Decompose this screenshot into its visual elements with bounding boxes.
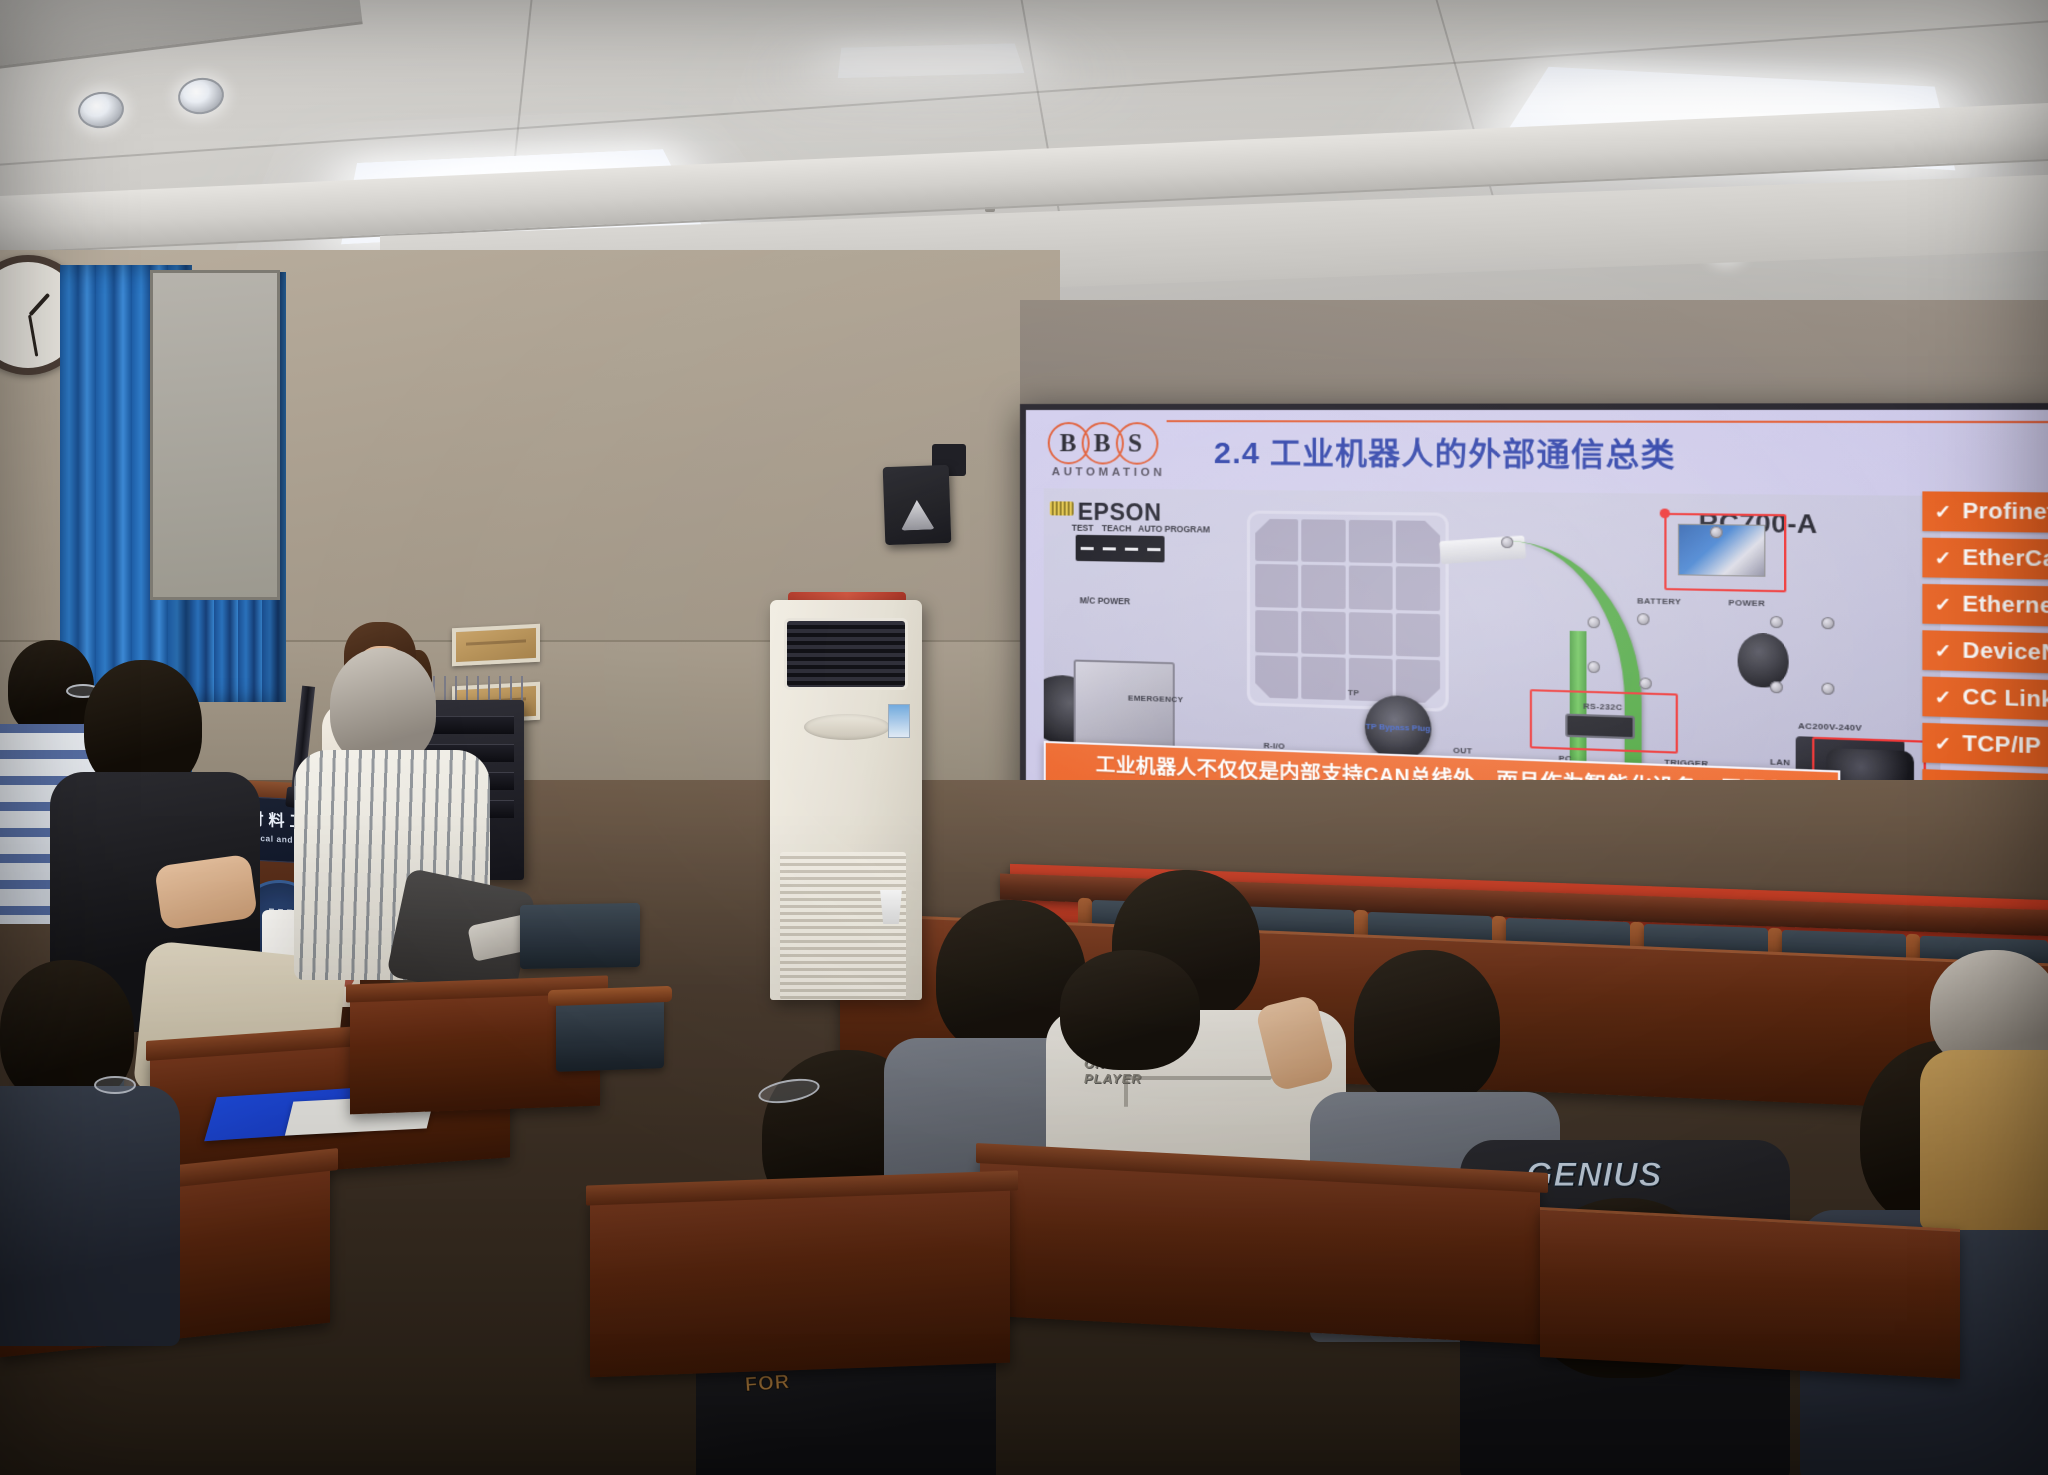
tp-label: TP xyxy=(1348,688,1360,698)
protocol-label: DeviceNet xyxy=(1962,638,2048,667)
logo-subtitle: AUTOMATION xyxy=(1052,466,1166,479)
lecture-hall-photo: 1 2 3 B B S AU xyxy=(0,0,2048,1475)
protocol-label: EtherCat xyxy=(1962,545,2048,572)
screw-icon xyxy=(1710,526,1723,538)
screw-icon xyxy=(1770,616,1783,628)
ceiling-panel-light xyxy=(838,43,1025,78)
bbs-automation-logo: B B S AUTOMATION xyxy=(1048,422,1196,481)
ceiling-soffit xyxy=(0,0,363,75)
battery-label: BATTERY xyxy=(1637,596,1681,607)
clock-hour-hand xyxy=(29,293,51,316)
person-head xyxy=(1354,950,1500,1106)
wall-speaker xyxy=(883,465,952,545)
check-icon: ✓ xyxy=(1934,502,1951,521)
logo-letter: B xyxy=(1094,430,1111,458)
logo-letter: S xyxy=(1128,430,1142,458)
slide-title: 2.4 工业机器人的外部通信总类 xyxy=(1214,427,1676,475)
out-label: OUT xyxy=(1453,746,1472,756)
chair-back xyxy=(520,903,640,969)
eyeglasses-icon xyxy=(94,1076,136,1094)
check-icon: ✓ xyxy=(1934,734,1951,753)
ceiling-spotlight xyxy=(76,89,127,131)
student-desk xyxy=(590,1183,1010,1378)
student-desk xyxy=(1540,1207,1960,1379)
air-conditioner xyxy=(770,600,922,1000)
protocol-label: Profinet xyxy=(1962,499,2048,526)
power-label: POWER xyxy=(1728,598,1765,608)
title-underline xyxy=(1167,420,2048,423)
protocol-item-cc-link[interactable]: ✓ CC Link xyxy=(1922,677,2048,724)
tp-bypass-text: TP Bypass Plug xyxy=(1366,722,1431,734)
check-icon: ✓ xyxy=(1934,687,1951,706)
person-head xyxy=(1060,950,1200,1070)
protocol-label: TCP/IP xyxy=(1962,731,2041,759)
ac-intake-grille xyxy=(780,852,906,1000)
protocol-item-profinet[interactable]: ✓ Profinet xyxy=(1922,491,2048,534)
speaker-horn xyxy=(900,499,935,530)
ac-brand-badge xyxy=(804,714,890,740)
protocol-item-devicenet[interactable]: ✓ DeviceNet xyxy=(1922,630,2048,676)
lan-label: LAN xyxy=(1770,757,1790,768)
screw-icon xyxy=(1501,536,1513,548)
protocol-label: CC Link xyxy=(1962,685,2048,713)
mode-label: PROGRAM xyxy=(1165,524,1211,535)
power-switch xyxy=(1738,633,1789,689)
highlight-box-option xyxy=(1664,513,1786,593)
highlight-marker xyxy=(1660,509,1670,519)
clock-minute-hand xyxy=(28,315,38,357)
chair-back xyxy=(556,998,664,1072)
screw-icon xyxy=(1821,617,1834,629)
mode-label: AUTO xyxy=(1138,523,1162,533)
ceiling-spotlight xyxy=(176,75,227,117)
check-icon: ✓ xyxy=(1934,595,1951,614)
protocol-item-tcp-ip[interactable]: ✓ TCP/IP xyxy=(1922,723,2048,771)
protocol-label: Ethernet/IP xyxy=(1962,592,2048,620)
robot-arm-bracket xyxy=(1074,659,1175,751)
ac-energy-label xyxy=(888,704,910,738)
check-icon: ✓ xyxy=(1934,548,1951,567)
brand-chip-icon xyxy=(1050,501,1074,515)
screw-icon xyxy=(1588,616,1600,628)
person-shirt xyxy=(1920,1050,2048,1230)
ac-input-label: AC200V-240V xyxy=(1798,721,1862,733)
person-shirt xyxy=(0,1086,180,1346)
protocol-item-ethercat[interactable]: ✓ EtherCat xyxy=(1922,538,2048,582)
protocol-item-ethernet-ip[interactable]: ✓ Ethernet/IP xyxy=(1922,584,2048,629)
wall-board xyxy=(150,270,280,600)
screw-icon xyxy=(1639,677,1651,689)
controller-vent-grid xyxy=(1247,510,1449,711)
emergency-label: EMERGENCY xyxy=(1128,693,1183,704)
screw-icon xyxy=(1821,683,1834,695)
screw-icon xyxy=(1770,681,1783,693)
mode-indicator-strip xyxy=(1076,535,1165,563)
mode-label: TEST xyxy=(1072,523,1094,533)
ac-air-outlet xyxy=(784,618,908,690)
wall-plaque xyxy=(452,624,540,667)
screw-icon xyxy=(1588,661,1600,673)
mc-power-label: M/C POWER xyxy=(1080,595,1130,606)
slide-header: B B S AUTOMATION 2.4 工业机器人的外部通信总类 xyxy=(1026,410,2048,498)
logo-letter: B xyxy=(1060,430,1077,458)
person-arm xyxy=(154,854,258,931)
highlight-box-rs232c xyxy=(1530,689,1678,754)
check-icon: ✓ xyxy=(1934,641,1951,660)
screw-icon xyxy=(1637,613,1649,625)
mode-label: TEACH xyxy=(1102,523,1132,533)
person-head xyxy=(330,648,436,766)
